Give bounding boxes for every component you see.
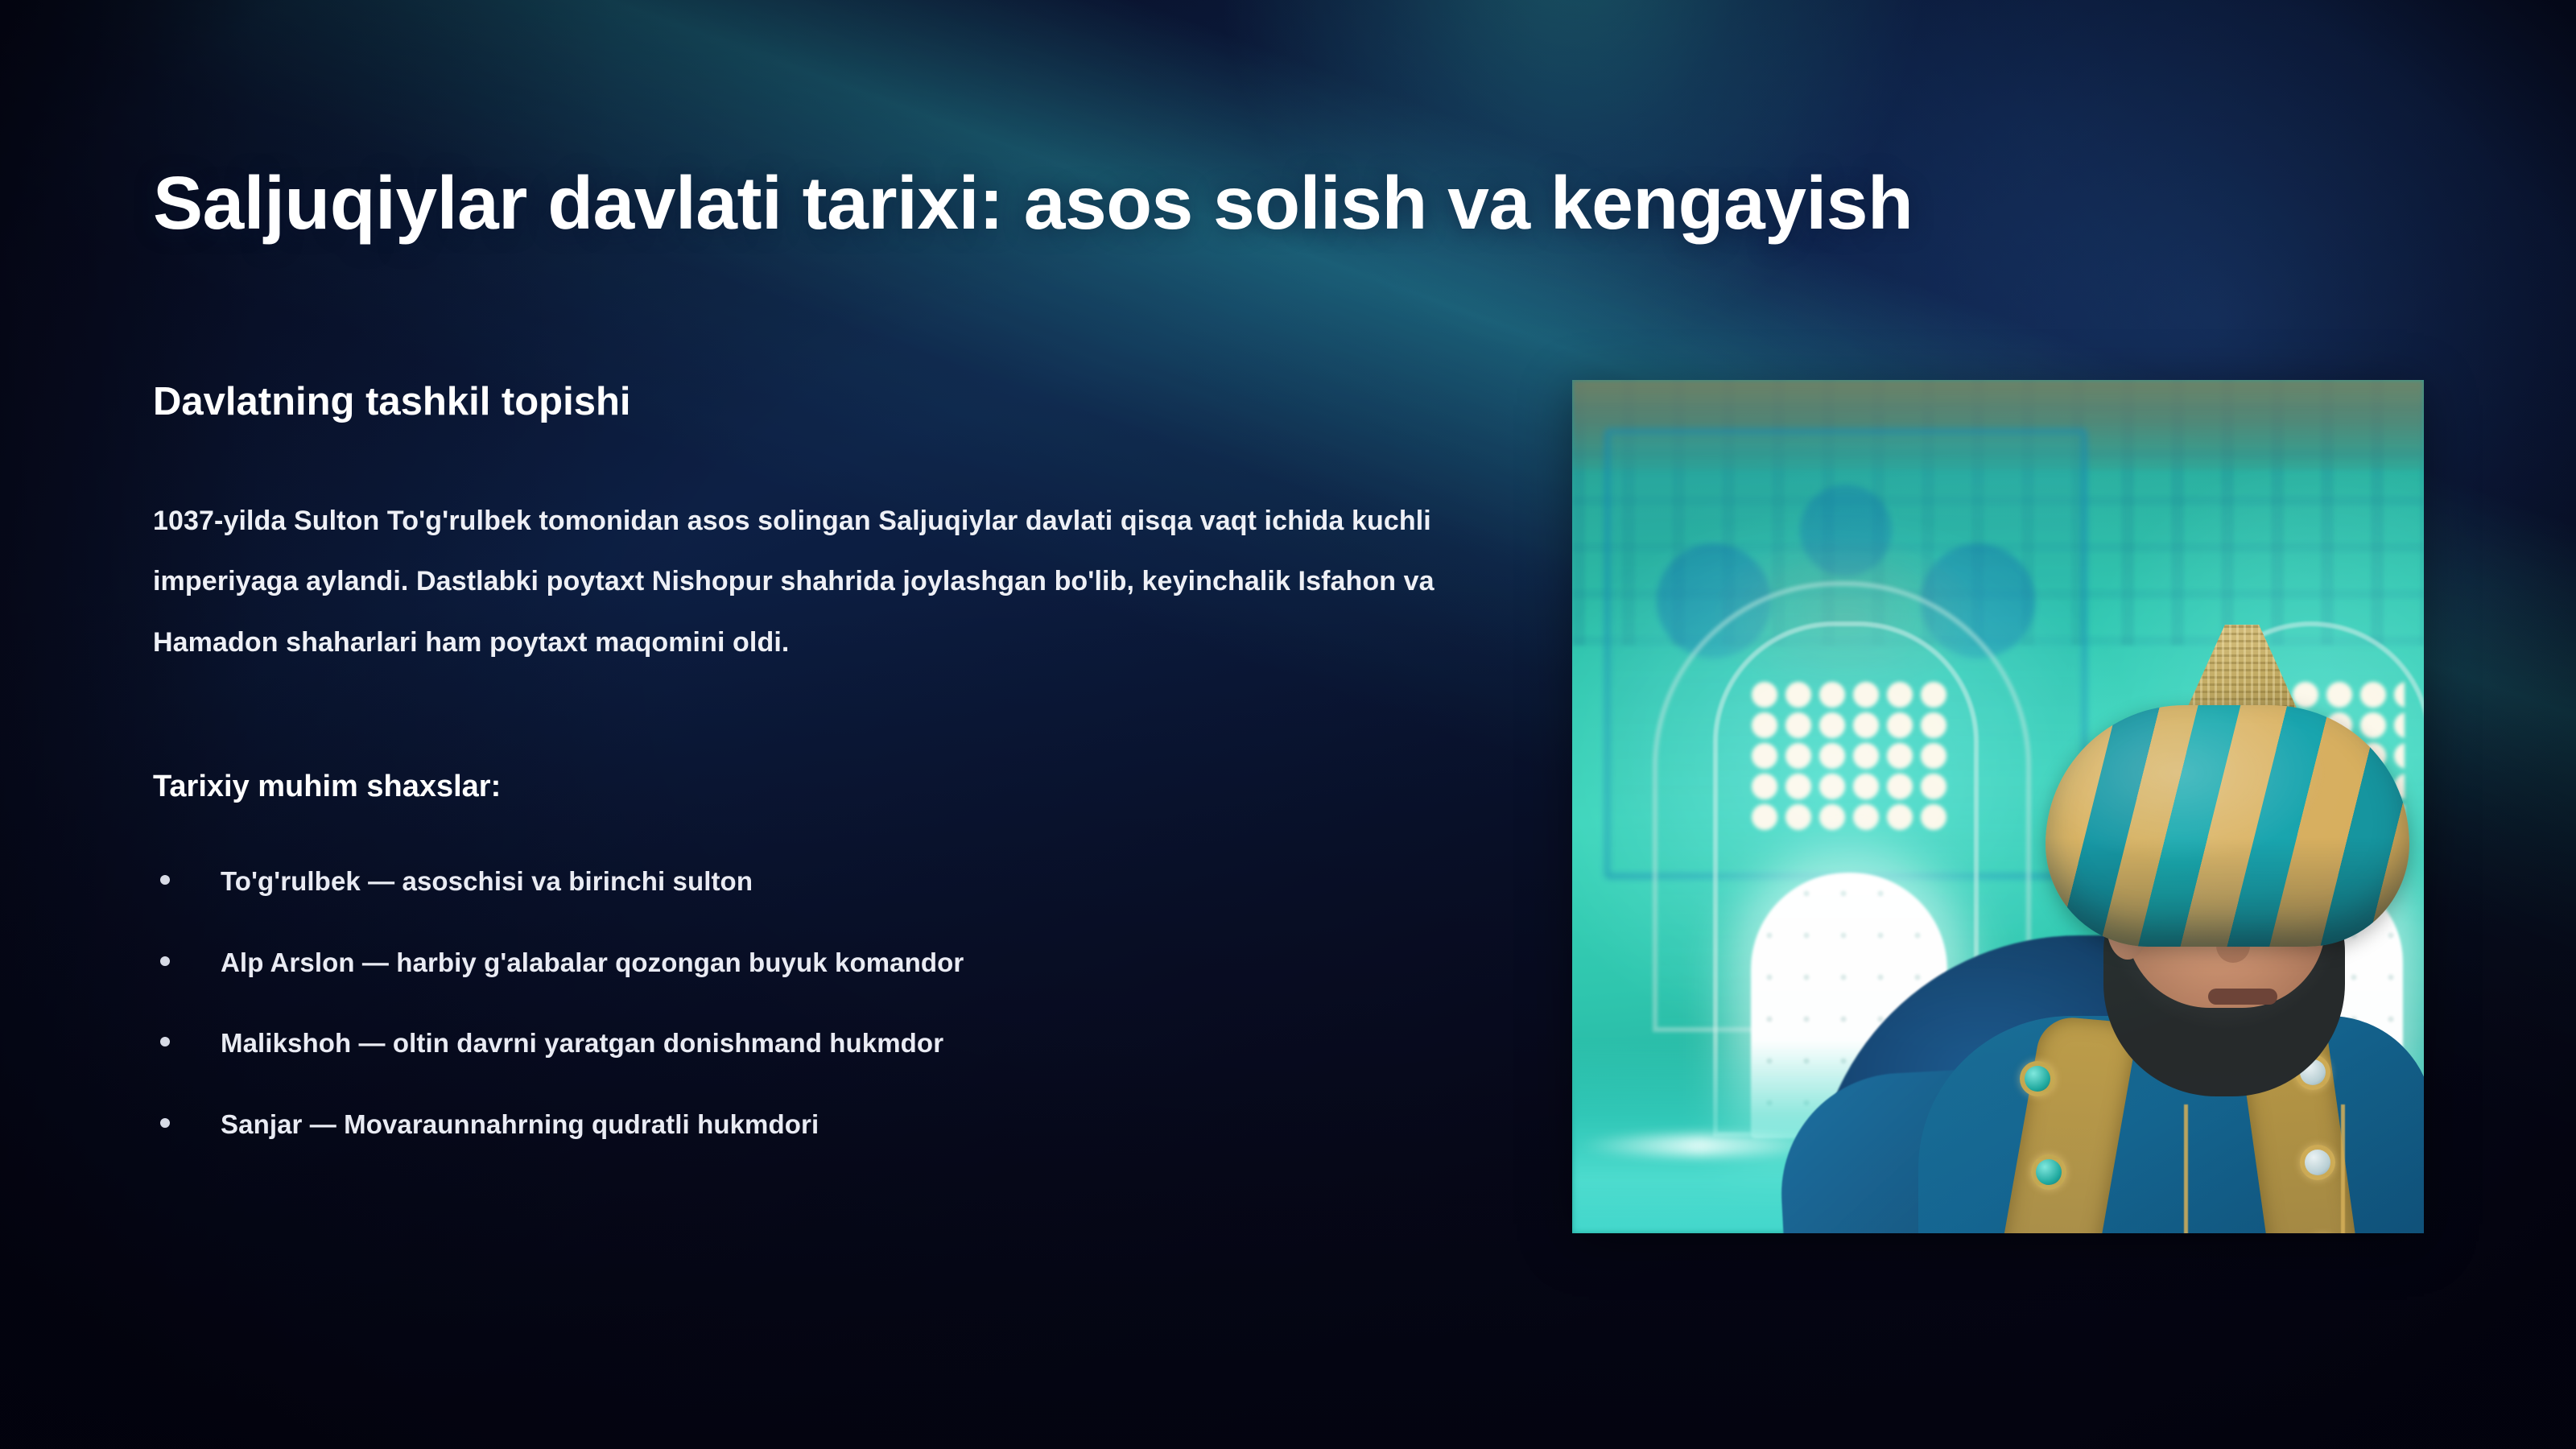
bullet-icon xyxy=(160,875,170,885)
list-item-label: To'g'rulbek — asoschisi va birinchi sult… xyxy=(221,866,753,896)
floor-highlight xyxy=(1579,1135,1820,1156)
robe-gem xyxy=(2031,1154,2066,1190)
bullet-icon xyxy=(160,1118,170,1128)
page-title: Saljuqiylar davlati tarixi: asos solish … xyxy=(153,161,2326,245)
list-item: To'g'rulbek — asoschisi va birinchi sult… xyxy=(153,865,1521,898)
list-item-label: Sanjar — Movaraunnahrning qudratli hukmd… xyxy=(221,1109,819,1139)
mouth xyxy=(2208,989,2277,1005)
robe-gem xyxy=(2020,1061,2055,1096)
list-item: Alp Arslon — harbiy g'alabalar qozongan … xyxy=(153,947,1521,979)
list-item: Malikshoh — oltin davrni yaratgan donish… xyxy=(153,1027,1521,1059)
bullet-icon xyxy=(160,1037,170,1046)
presentation-slide: Saljuqiylar davlati tarixi: asos solish … xyxy=(0,0,2576,1449)
body-paragraph: 1037-yilda Sulton To'g'rulbek tomonidan … xyxy=(153,491,1489,673)
historical-figures-list: To'g'rulbek — asoschisi va birinchi sult… xyxy=(153,865,1521,1189)
list-item: Sanjar — Movaraunnahrning qudratli hukmd… xyxy=(153,1108,1521,1141)
gold-necklace xyxy=(2184,1104,2345,1233)
list-item-label: Alp Arslon — harbiy g'alabalar qozongan … xyxy=(221,947,964,977)
section-heading: Davlatning tashkil topishi xyxy=(153,378,1521,426)
list-item-label: Malikshoh — oltin davrni yaratgan donish… xyxy=(221,1028,943,1058)
turban-shading xyxy=(2046,705,2409,947)
list-heading: Tarixiy muhim shaxslar: xyxy=(153,769,1360,806)
bullet-icon xyxy=(160,956,170,966)
sultan-portrait-image xyxy=(1572,380,2424,1233)
